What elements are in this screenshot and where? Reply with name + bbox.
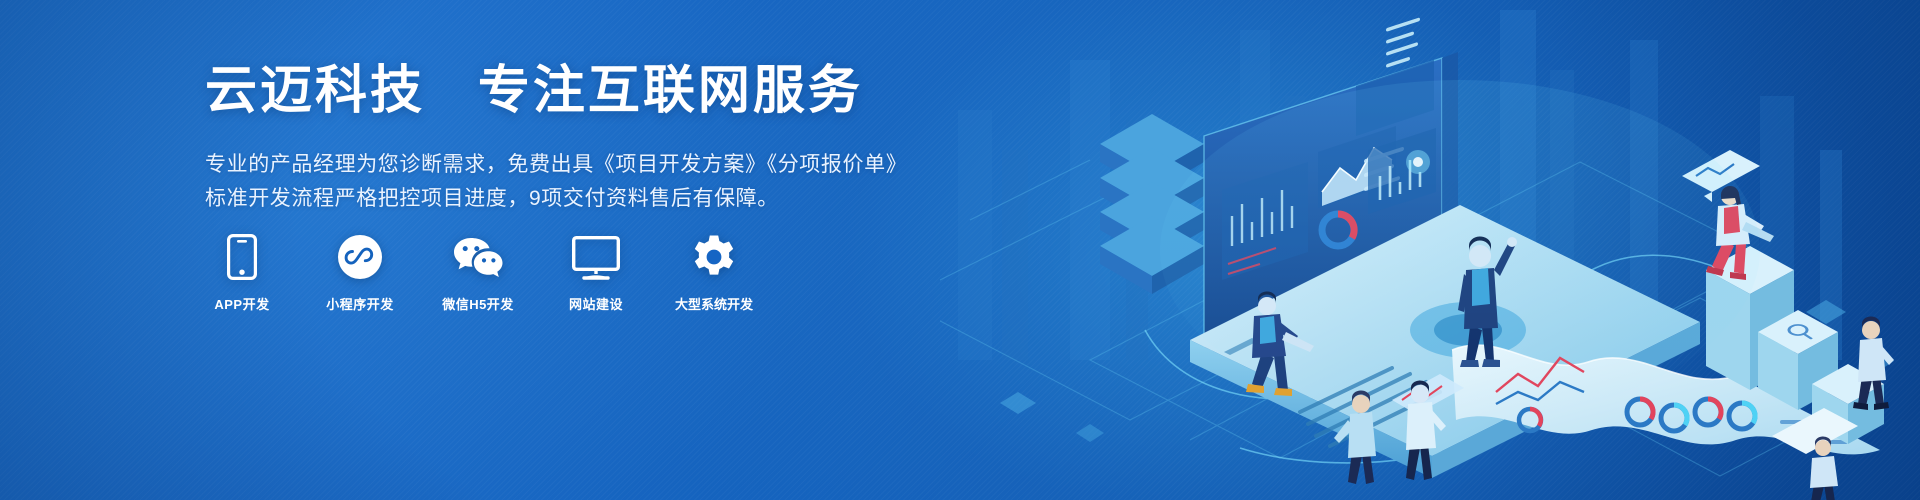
service-label: APP开发 [214, 294, 269, 313]
headline-tagline: 专注互联网服务 [478, 62, 863, 120]
page-title: 云迈科技 专注互联网服务 [205, 62, 965, 122]
service-label: 大型系统开发 [675, 294, 753, 313]
hero-banner: 云迈科技 专注互联网服务 专业的产品经理为您诊断需求，免费出具《项目开发方案》《… [0, 0, 1920, 500]
service-item-large-system[interactable]: 大型系统开发 [677, 232, 751, 313]
monitor-icon [572, 232, 620, 280]
service-item-website[interactable]: 网站建设 [559, 232, 633, 313]
subtitle-line-1: 专业的产品经理为您诊断需求，免费出具《项目开发方案》《分项报价单》 [205, 153, 907, 176]
gear-icon [691, 232, 737, 280]
mobile-phone-icon [227, 232, 257, 280]
subtitle-line-2: 标准开发流程严格把控项目进度，9项交付资料售后有保障。 [205, 182, 965, 216]
hero-copy: 云迈科技 专注互联网服务 专业的产品经理为您诊断需求，免费出具《项目开发方案》《… [205, 62, 965, 216]
service-item-app[interactable]: APP开发 [205, 232, 279, 313]
wechat-icon [452, 232, 504, 280]
hero-subtitle: 专业的产品经理为您诊断需求，免费出具《项目开发方案》《分项报价单》 标准开发流程… [205, 148, 965, 216]
service-label: 微信H5开发 [442, 294, 514, 313]
headline-brand: 云迈科技 [205, 62, 425, 120]
illustration [940, 0, 1920, 500]
service-item-miniprogram[interactable]: 小程序开发 [323, 232, 397, 313]
service-label: 小程序开发 [326, 294, 394, 313]
service-item-wechat-h5[interactable]: 微信H5开发 [441, 232, 515, 313]
service-label: 网站建设 [569, 294, 623, 313]
mini-program-icon [337, 232, 383, 280]
service-list: APP开发 小程序开发 微信 [205, 232, 751, 313]
